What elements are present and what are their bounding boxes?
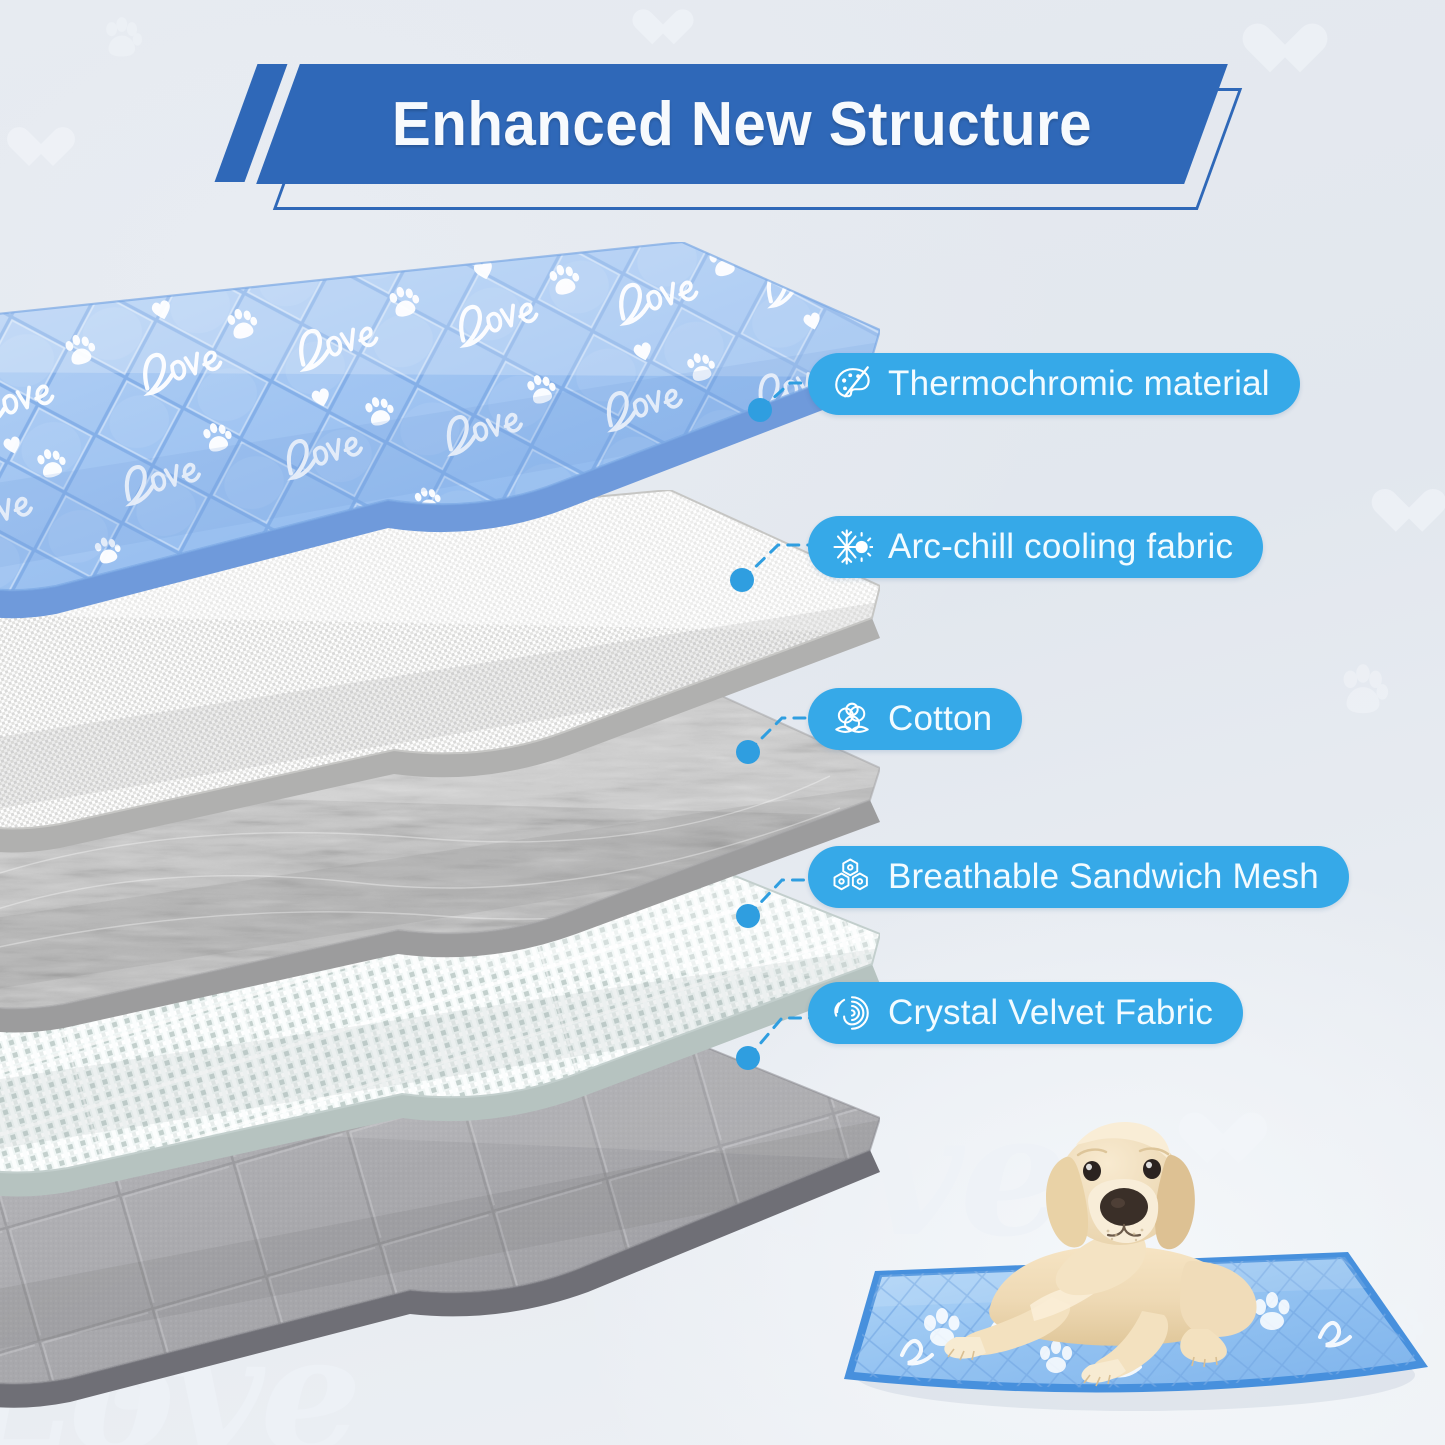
label-pill-crystal-velvet[interactable]: Crystal Velvet Fabric (808, 982, 1243, 1044)
honeycomb-icon (830, 855, 874, 899)
label-pill-sandwich-mesh[interactable]: Breathable Sandwich Mesh (808, 846, 1349, 908)
cotton-boll-icon (830, 697, 874, 741)
product-photo-dog-on-mat (790, 1075, 1445, 1445)
label-text: Crystal Velvet Fabric (888, 993, 1213, 1033)
label-text: Cotton (888, 699, 992, 739)
label-text: Arc-chill cooling fabric (888, 527, 1233, 567)
palette-icon (830, 362, 874, 406)
connector-dot-1 (748, 398, 772, 422)
connector-dot-5 (736, 1046, 760, 1070)
label-pill-arc-chill[interactable]: Arc-chill cooling fabric (808, 516, 1263, 578)
connector-dot-3 (736, 740, 760, 764)
label-pill-cotton[interactable]: Cotton (808, 688, 1022, 750)
label-text: Thermochromic material (888, 364, 1270, 404)
label-pill-thermochromic[interactable]: Thermochromic material (808, 353, 1300, 415)
snowflake-sun-icon (830, 525, 874, 569)
connector-dot-4 (736, 904, 760, 928)
connector-dot-2 (730, 568, 754, 592)
label-text: Breathable Sandwich Mesh (888, 857, 1319, 897)
velvet-swirl-icon (830, 991, 874, 1035)
